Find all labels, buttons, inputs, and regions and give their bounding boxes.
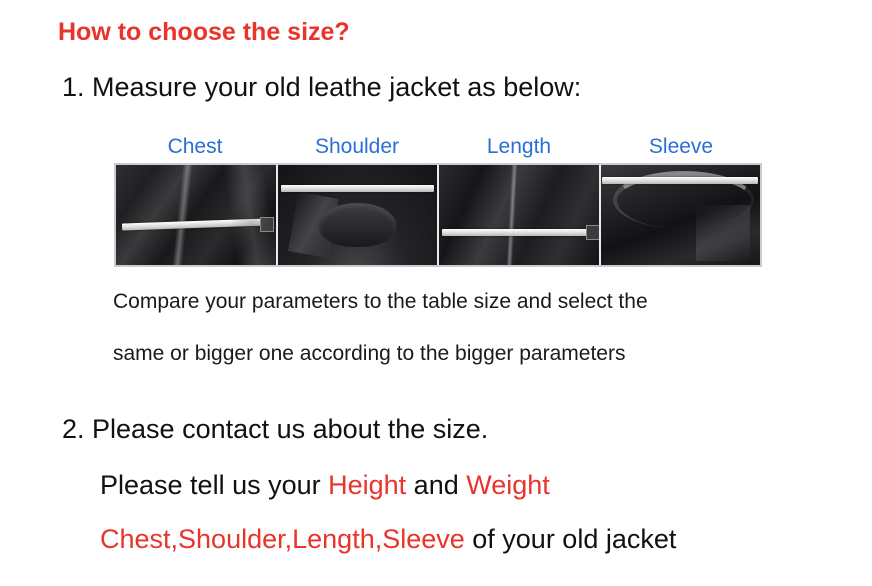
shoulder-collar (319, 203, 396, 247)
measurement-labels-row: Chest Shoulder Length Sleeve (114, 135, 762, 161)
page-title: How to choose the size? (58, 18, 350, 47)
step-1-text: 1. Measure your old leathe jacket as bel… (62, 72, 581, 103)
length-zipper (506, 165, 518, 265)
shoulder-tape-measure (281, 185, 434, 192)
step-2-text: 2. Please contact us about the size. (62, 414, 488, 445)
size-guide-page: How to choose the size? 1. Measure your … (0, 0, 872, 586)
contact-prefix: Please tell us your (100, 470, 328, 500)
label-length: Length (438, 135, 600, 161)
measurement-photo-strip (114, 163, 762, 267)
contact-measures-keywords: Chest,Shoulder,Length,Sleeve (100, 524, 465, 554)
chest-tape-measure (122, 218, 269, 230)
length-tape-measure (442, 229, 595, 236)
compare-line-1: Compare your parameters to the table siz… (113, 290, 648, 314)
chest-photo (116, 165, 278, 265)
contact-weight-keyword: Weight (466, 470, 550, 500)
contact-height-keyword: Height (328, 470, 406, 500)
sleeve-photo (601, 165, 761, 265)
chest-tape-end-icon (260, 217, 274, 232)
label-shoulder: Shoulder (276, 135, 438, 161)
label-chest: Chest (114, 135, 276, 161)
compare-line-2: same or bigger one according to the bigg… (113, 342, 625, 366)
label-sleeve: Sleeve (600, 135, 762, 161)
sleeve-tape-measure (602, 177, 758, 184)
shoulder-photo (278, 165, 440, 265)
contact-and: and (406, 470, 466, 500)
contact-suffix: of your old jacket (465, 524, 677, 554)
contact-measures-line: Chest,Shoulder,Length,Sleeve of your old… (100, 524, 676, 555)
contact-height-weight-line: Please tell us your Height and Weight (100, 470, 550, 501)
sleeve-highlight (696, 205, 750, 261)
length-tape-end-icon (586, 225, 600, 240)
length-photo (439, 165, 601, 265)
